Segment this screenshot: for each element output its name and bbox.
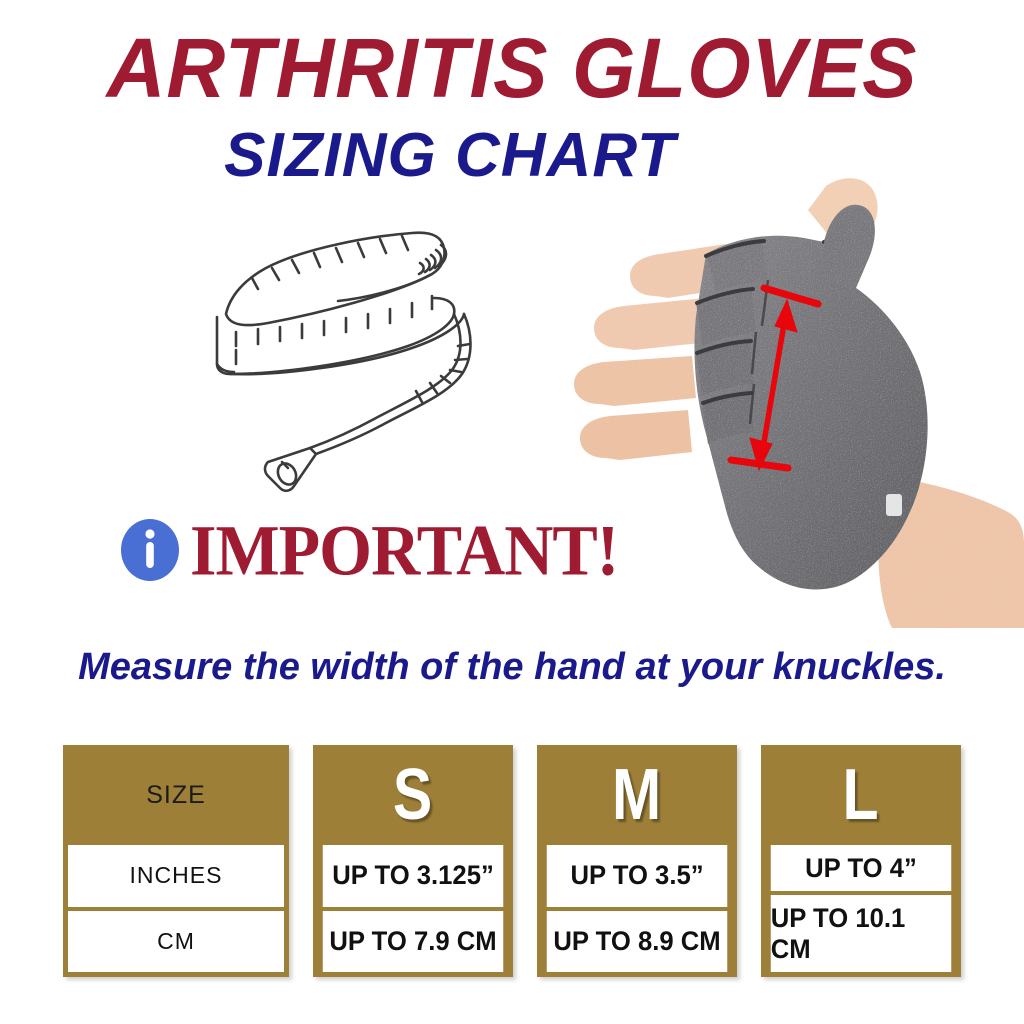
cell-m-cm: UP TO 8.9 CM: [547, 911, 728, 973]
table-column-medium: M UP TO 3.5” UP TO 8.9 CM: [537, 745, 737, 977]
cell-l-inches: UP TO 4”: [771, 845, 952, 891]
table-column-label: SIZE INCHES CM: [63, 745, 289, 977]
column-header-size: SIZE: [63, 745, 289, 845]
column-header-s: S: [331, 745, 495, 845]
row-label-cm: CM: [68, 911, 284, 973]
page-title: ARTHRITIS GLOVES: [15, 26, 1008, 110]
row-label-inches: INCHES: [68, 845, 284, 907]
cell-s-inches: UP TO 3.125”: [323, 845, 504, 907]
table-column-large: L UP TO 4” UP TO 10.1 CM: [761, 745, 961, 977]
info-icon: [118, 518, 182, 582]
cell-s-cm: UP TO 7.9 CM: [323, 911, 504, 973]
important-notice: IMPORTANT!: [118, 504, 618, 596]
tape-measure-icon: [186, 228, 516, 496]
cell-m-inches: UP TO 3.5”: [547, 845, 728, 907]
column-header-l: L: [779, 745, 943, 845]
instruction-text: Measure the width of the hand at your kn…: [0, 648, 1024, 686]
sizing-table: SIZE INCHES CM S UP TO 3.125” UP TO 7.9 …: [63, 745, 961, 977]
column-header-m: M: [555, 745, 719, 845]
important-label: IMPORTANT!: [190, 514, 618, 586]
sizing-chart-page: ARTHRITIS GLOVES SIZING CHART: [0, 0, 1024, 1024]
cell-l-cm: UP TO 10.1 CM: [771, 895, 952, 972]
table-column-small: S UP TO 3.125” UP TO 7.9 CM: [313, 745, 513, 977]
glove-photo: [556, 176, 1024, 628]
